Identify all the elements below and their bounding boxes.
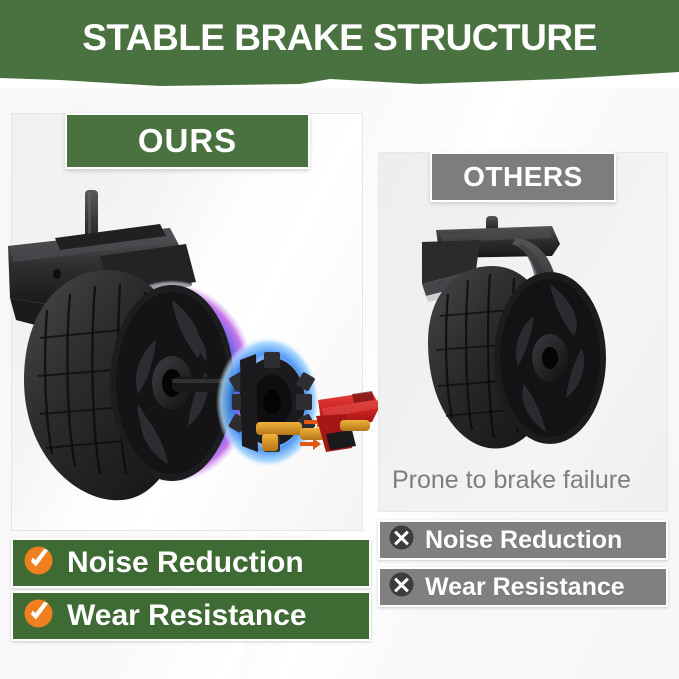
feature-bar-others-noise-reduction[interactable]: Noise Reduction xyxy=(378,520,668,560)
feature-label: Noise Reduction xyxy=(425,526,622,555)
x-circle-icon xyxy=(388,524,415,556)
badge-others: OTHERS xyxy=(430,152,616,202)
others-product-image xyxy=(392,208,668,464)
feature-bar-ours-wear-resistance[interactable]: Wear Resistance xyxy=(11,591,371,641)
others-failure-caption: Prone to brake failure xyxy=(392,466,662,502)
badge-ours: OURS xyxy=(65,113,310,169)
check-circle-icon xyxy=(22,544,55,582)
infographic-root: STABLE BRAKE STRUCTURE xyxy=(0,0,679,679)
feature-label: Wear Resistance xyxy=(67,599,307,633)
feature-bar-others-wear-resistance[interactable]: Wear Resistance xyxy=(378,567,668,607)
page-title: STABLE BRAKE STRUCTURE xyxy=(0,17,679,59)
ours-product-image xyxy=(0,190,380,535)
feature-bar-ours-noise-reduction[interactable]: Noise Reduction xyxy=(11,538,371,588)
x-circle-icon xyxy=(388,571,415,603)
check-circle-icon xyxy=(22,597,55,635)
feature-label: Wear Resistance xyxy=(425,573,625,602)
feature-label: Noise Reduction xyxy=(67,546,304,580)
brake-lever xyxy=(316,391,380,452)
